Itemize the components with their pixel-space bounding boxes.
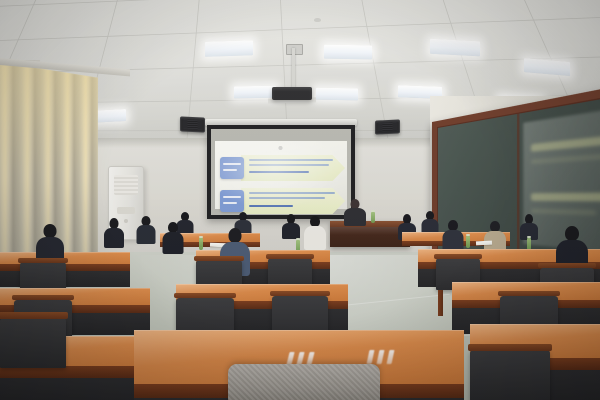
attendee xyxy=(162,222,183,252)
projector-mount-pole xyxy=(292,48,295,90)
attendee xyxy=(282,214,300,237)
water-bottle xyxy=(466,236,470,248)
ceiling-light-panel xyxy=(430,39,480,57)
chair xyxy=(470,350,550,400)
classroom-photo xyxy=(0,0,600,400)
projection-screen[interactable] xyxy=(207,125,355,219)
chair xyxy=(0,318,66,368)
attendee xyxy=(136,216,155,242)
wall-speaker-icon xyxy=(375,119,400,134)
attendee xyxy=(104,218,124,246)
presenter xyxy=(344,199,366,225)
projector-icon xyxy=(272,87,312,100)
wall-speaker-icon xyxy=(180,116,205,132)
foreground-chair xyxy=(228,364,380,400)
paper-sheet xyxy=(476,241,492,246)
water-bottle xyxy=(371,212,375,223)
ceiling-light-panel xyxy=(205,40,253,57)
water-bottle xyxy=(199,238,203,250)
attendee xyxy=(304,216,326,248)
attendee xyxy=(520,214,538,238)
attendee xyxy=(442,220,463,250)
ceiling-light-panel xyxy=(234,86,276,99)
presentation-slide xyxy=(215,141,347,209)
ceiling-light-panel xyxy=(324,45,372,60)
attendee xyxy=(421,211,438,234)
ceiling-light-panel xyxy=(316,88,358,101)
smoke-detector-icon xyxy=(314,18,321,22)
